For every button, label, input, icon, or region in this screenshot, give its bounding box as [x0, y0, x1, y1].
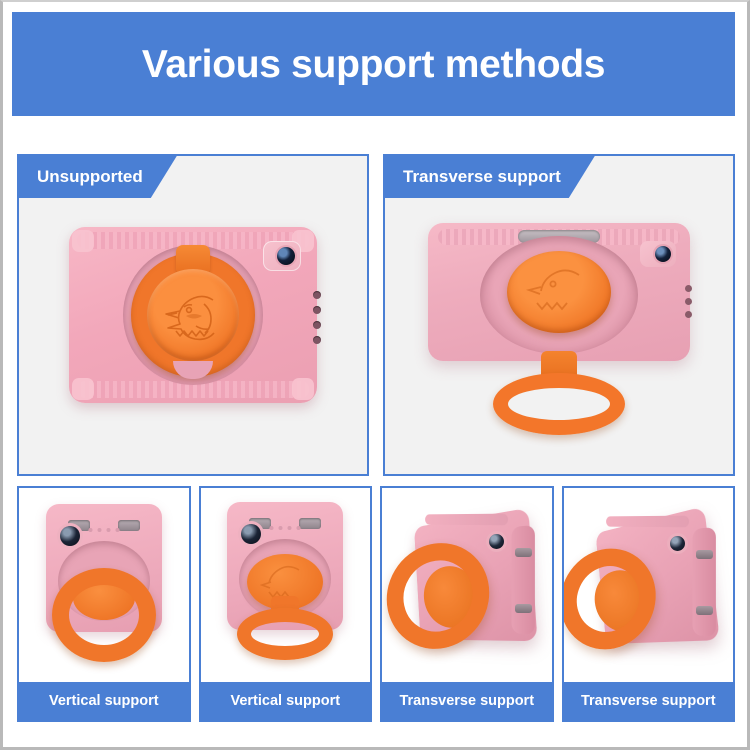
side-button-dot	[685, 298, 692, 305]
camera-module-icon	[640, 241, 676, 267]
port-slot	[515, 604, 532, 613]
side-buttons	[313, 291, 321, 344]
orange-ring-holder	[131, 253, 255, 377]
eagle-head-icon	[156, 286, 230, 348]
case-corner-guard	[72, 230, 94, 252]
camera-module-icon	[60, 526, 80, 546]
product-image-transverse	[385, 156, 733, 474]
port-slot	[696, 550, 713, 559]
tablet-case-vertical-ringdown	[221, 492, 349, 640]
panel-tab-label-transverse: Transverse support	[385, 156, 595, 198]
camera-module-icon	[241, 524, 261, 544]
tablet-case-angled-kickstand-alt	[569, 506, 727, 656]
case-top-bumper	[606, 516, 689, 528]
port-slot	[515, 548, 532, 557]
side-button-dot	[97, 528, 101, 532]
thumbnail-label-1: Vertical support	[19, 682, 189, 720]
thumbnail-label-4: Transverse support	[564, 682, 734, 720]
infographic-page: Various support methods Unsupported	[0, 0, 750, 750]
orange-ring-kickstand	[493, 373, 625, 435]
port-slot	[299, 518, 321, 529]
thumbnail-transverse-support-1[interactable]: Transverse support	[380, 486, 554, 722]
page-title: Various support methods	[142, 45, 605, 84]
thumbnail-row: Vertical support	[17, 486, 735, 722]
case-top-bumper	[425, 514, 508, 526]
tablet-case-angled-kickstand	[388, 504, 546, 654]
case-side-edge	[511, 525, 534, 635]
case-body	[428, 223, 690, 361]
side-button-dot	[313, 321, 321, 329]
panel-tab-label-unsupported: Unsupported	[19, 156, 177, 198]
side-button-dot	[685, 311, 692, 318]
port-slot	[696, 606, 713, 615]
side-button-dot	[88, 528, 92, 532]
ring-bottom-notch	[173, 361, 213, 379]
side-button-dot	[279, 526, 283, 530]
eagle-medallion	[507, 251, 611, 333]
thumbnail-image-4	[564, 488, 734, 682]
camera-module-icon	[489, 534, 504, 549]
eagle-head-icon	[507, 251, 611, 333]
camera-module-icon	[670, 536, 685, 551]
side-button-dot	[270, 526, 274, 530]
orange-ring-kickstand	[237, 608, 333, 660]
product-image-unsupported	[19, 156, 367, 474]
side-button-dot	[288, 526, 292, 530]
side-buttons	[685, 285, 692, 318]
thumbnail-label-2: Vertical support	[201, 682, 371, 720]
tablet-case-vertical-topdown	[40, 494, 168, 642]
side-button-dot	[313, 336, 321, 344]
panel-unsupported[interactable]: Unsupported	[17, 154, 369, 476]
thumbnail-image-3	[382, 488, 552, 682]
eagle-medallion	[147, 269, 239, 361]
case-corner-guard	[292, 378, 314, 400]
ring-recess	[123, 245, 263, 385]
header-banner: Various support methods	[12, 12, 735, 116]
camera-module-icon	[263, 241, 301, 271]
thumbnail-image-2	[201, 488, 371, 682]
case-corner-guard	[72, 378, 94, 400]
thumbnail-label-3: Transverse support	[382, 682, 552, 720]
port-slot	[118, 520, 140, 531]
side-button-dot	[313, 306, 321, 314]
side-button-dot	[313, 291, 321, 299]
side-button-dot	[115, 528, 119, 532]
thumbnail-transverse-support-2[interactable]: Transverse support	[562, 486, 736, 722]
side-buttons	[88, 528, 119, 532]
thumbnail-image-1	[19, 488, 189, 682]
orange-ring-holder	[52, 568, 156, 662]
tablet-case-flat-back	[69, 227, 317, 403]
thumbnail-vertical-support-1[interactable]: Vertical support	[17, 486, 191, 722]
side-button-dot	[106, 528, 110, 532]
panel-transverse-support[interactable]: Transverse support	[383, 154, 735, 476]
side-button-dot	[297, 526, 301, 530]
thumbnail-vertical-support-2[interactable]: Vertical support	[199, 486, 373, 722]
tablet-case-kickstand	[428, 223, 690, 407]
side-button-dot	[685, 285, 692, 292]
side-buttons	[270, 526, 301, 530]
case-side-edge	[693, 527, 716, 637]
top-panel-row: Unsupported	[17, 154, 735, 476]
